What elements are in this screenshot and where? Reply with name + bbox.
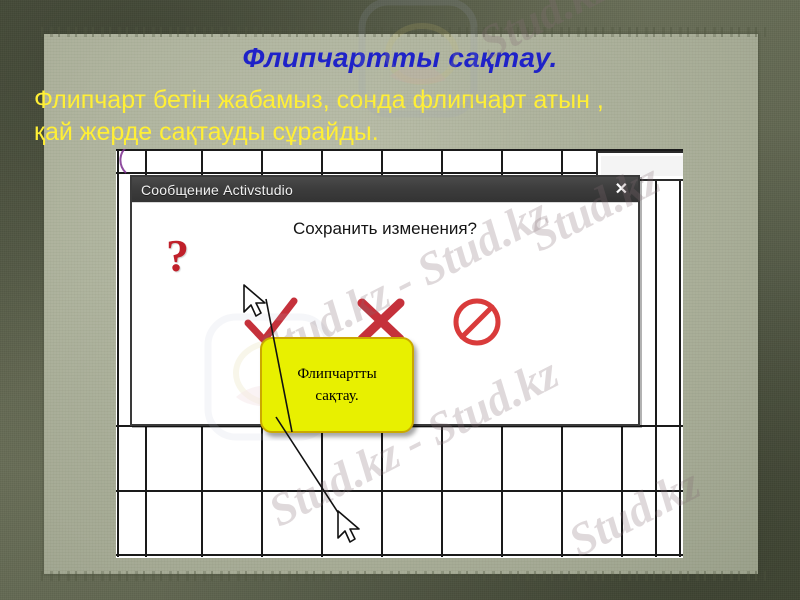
page-title: Флипчартты сақтау. <box>0 42 800 74</box>
callout-line-2: сақтау. <box>315 385 358 408</box>
subtitle-line-1: Флипчарт бетін жабамыз, сонда флипчарт а… <box>34 86 604 114</box>
embedded-screenshot: Сообщение Activstudio ✕ Сохранить измене… <box>116 149 683 558</box>
dialog-title: Сообщение Activstudio <box>141 182 293 198</box>
slide-canvas: Флипчартты сақтау. Флипчарт бетін жабамы… <box>0 0 800 600</box>
callout-line-1: Флипчартты <box>297 363 376 386</box>
callout-box: Флипчартты сақтау. <box>260 337 414 433</box>
close-icon[interactable]: ✕ <box>611 180 632 200</box>
subtitle-line-2: қай жерде сақтауды сұрайды. <box>34 116 734 148</box>
question-mark-icon: ? <box>166 233 189 279</box>
toolbar-box-inner <box>601 156 683 176</box>
dialog-titlebar[interactable]: Сообщение Activstudio ✕ <box>132 177 638 203</box>
dialog-message: Сохранить изменения? <box>132 219 638 239</box>
page-subtitle: Флипчарт бетін жабамыз, сонда флипчарт а… <box>34 84 734 148</box>
deny-icon[interactable] <box>450 295 504 349</box>
